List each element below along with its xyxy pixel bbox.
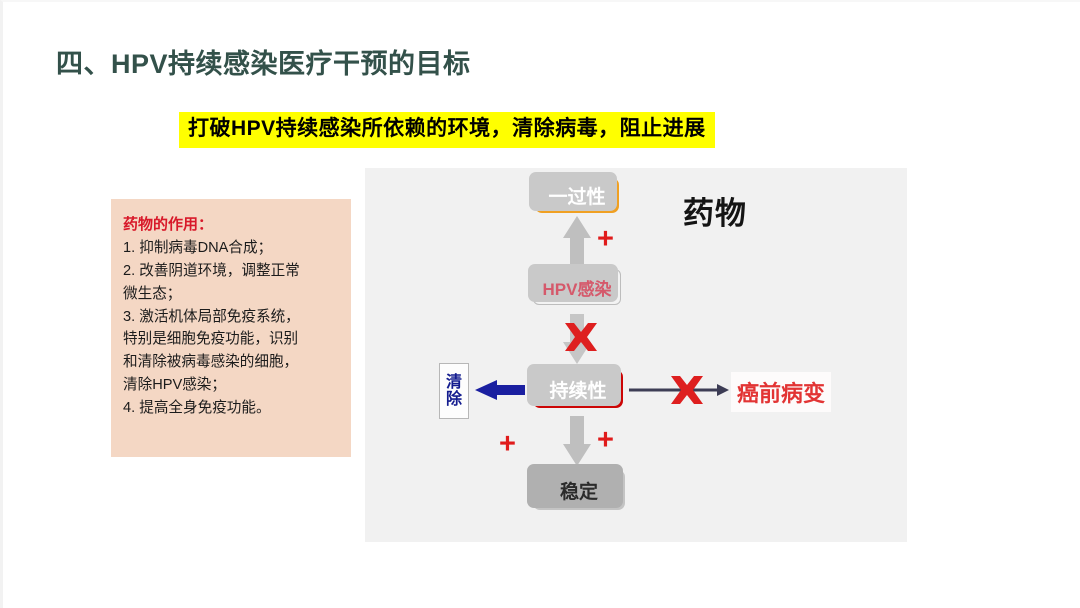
node-hpv-infection[interactable]: HPV感染 [533, 269, 621, 305]
list-item: 特别是细胞免疫功能，识别 [123, 328, 341, 351]
arrow-up-to-transient [562, 216, 591, 266]
node-stable[interactable]: 稳定 [533, 470, 625, 510]
node-transient[interactable]: 一过性 [535, 178, 619, 213]
drug-label: 药物 [683, 188, 747, 233]
subtitle-highlight-banner: 打破HPV持续感染所依赖的环境，清除病毒，阻止进展 [179, 112, 715, 148]
drug-effect-heading: 药物的作用： [123, 213, 341, 236]
plus-sign-clear: + [499, 430, 516, 459]
node-persistent[interactable]: 持续性 [533, 370, 623, 408]
list-item: 4. 提高全身免疫功能。 [123, 397, 341, 420]
plus-sign-stable: + [597, 426, 614, 455]
list-item: 清除HPV感染； [123, 374, 341, 397]
plus-sign-transient: + [597, 225, 614, 254]
list-item: 微生态； [123, 283, 341, 306]
block-x-icon-infection [561, 320, 601, 354]
page-title: 四、HPV持续感染医疗干预的目标 [56, 42, 471, 81]
arrow-down-to-stable [563, 416, 591, 466]
arrow-left-to-clear [475, 380, 525, 400]
node-precancer[interactable]: 癌前病变 [731, 372, 831, 412]
node-clear[interactable]: 清 除 [439, 363, 469, 419]
list-item: 和清除被病毒感染的细胞， [123, 351, 341, 374]
diagram-connector-layer [365, 168, 907, 542]
list-item: 2. 改善阴道环境，调整正常 [123, 260, 341, 283]
list-item: 1. 抑制病毒DNA合成； [123, 237, 341, 260]
drug-effect-item-list: 1. 抑制病毒DNA合成； 2. 改善阴道环境，调整正常 微生态； 3. 激活机… [123, 237, 341, 419]
node-clear-line1: 清 [446, 374, 462, 391]
node-clear-line2: 除 [446, 391, 462, 408]
block-x-icon-precancer [667, 373, 707, 407]
list-item: 3. 激活机体局部免疫系统， [123, 306, 341, 329]
flow-diagram-panel: 一过性 HPV感染 持续性 稳定 清 除 癌前病变 药物 + + + [365, 168, 907, 542]
slide-canvas: 四、HPV持续感染医疗干预的目标 打破HPV持续感染所依赖的环境，清除病毒，阻止… [0, 0, 1080, 608]
drug-effect-note-box: 药物的作用： 1. 抑制病毒DNA合成； 2. 改善阴道环境，调整正常 微生态；… [111, 199, 351, 457]
